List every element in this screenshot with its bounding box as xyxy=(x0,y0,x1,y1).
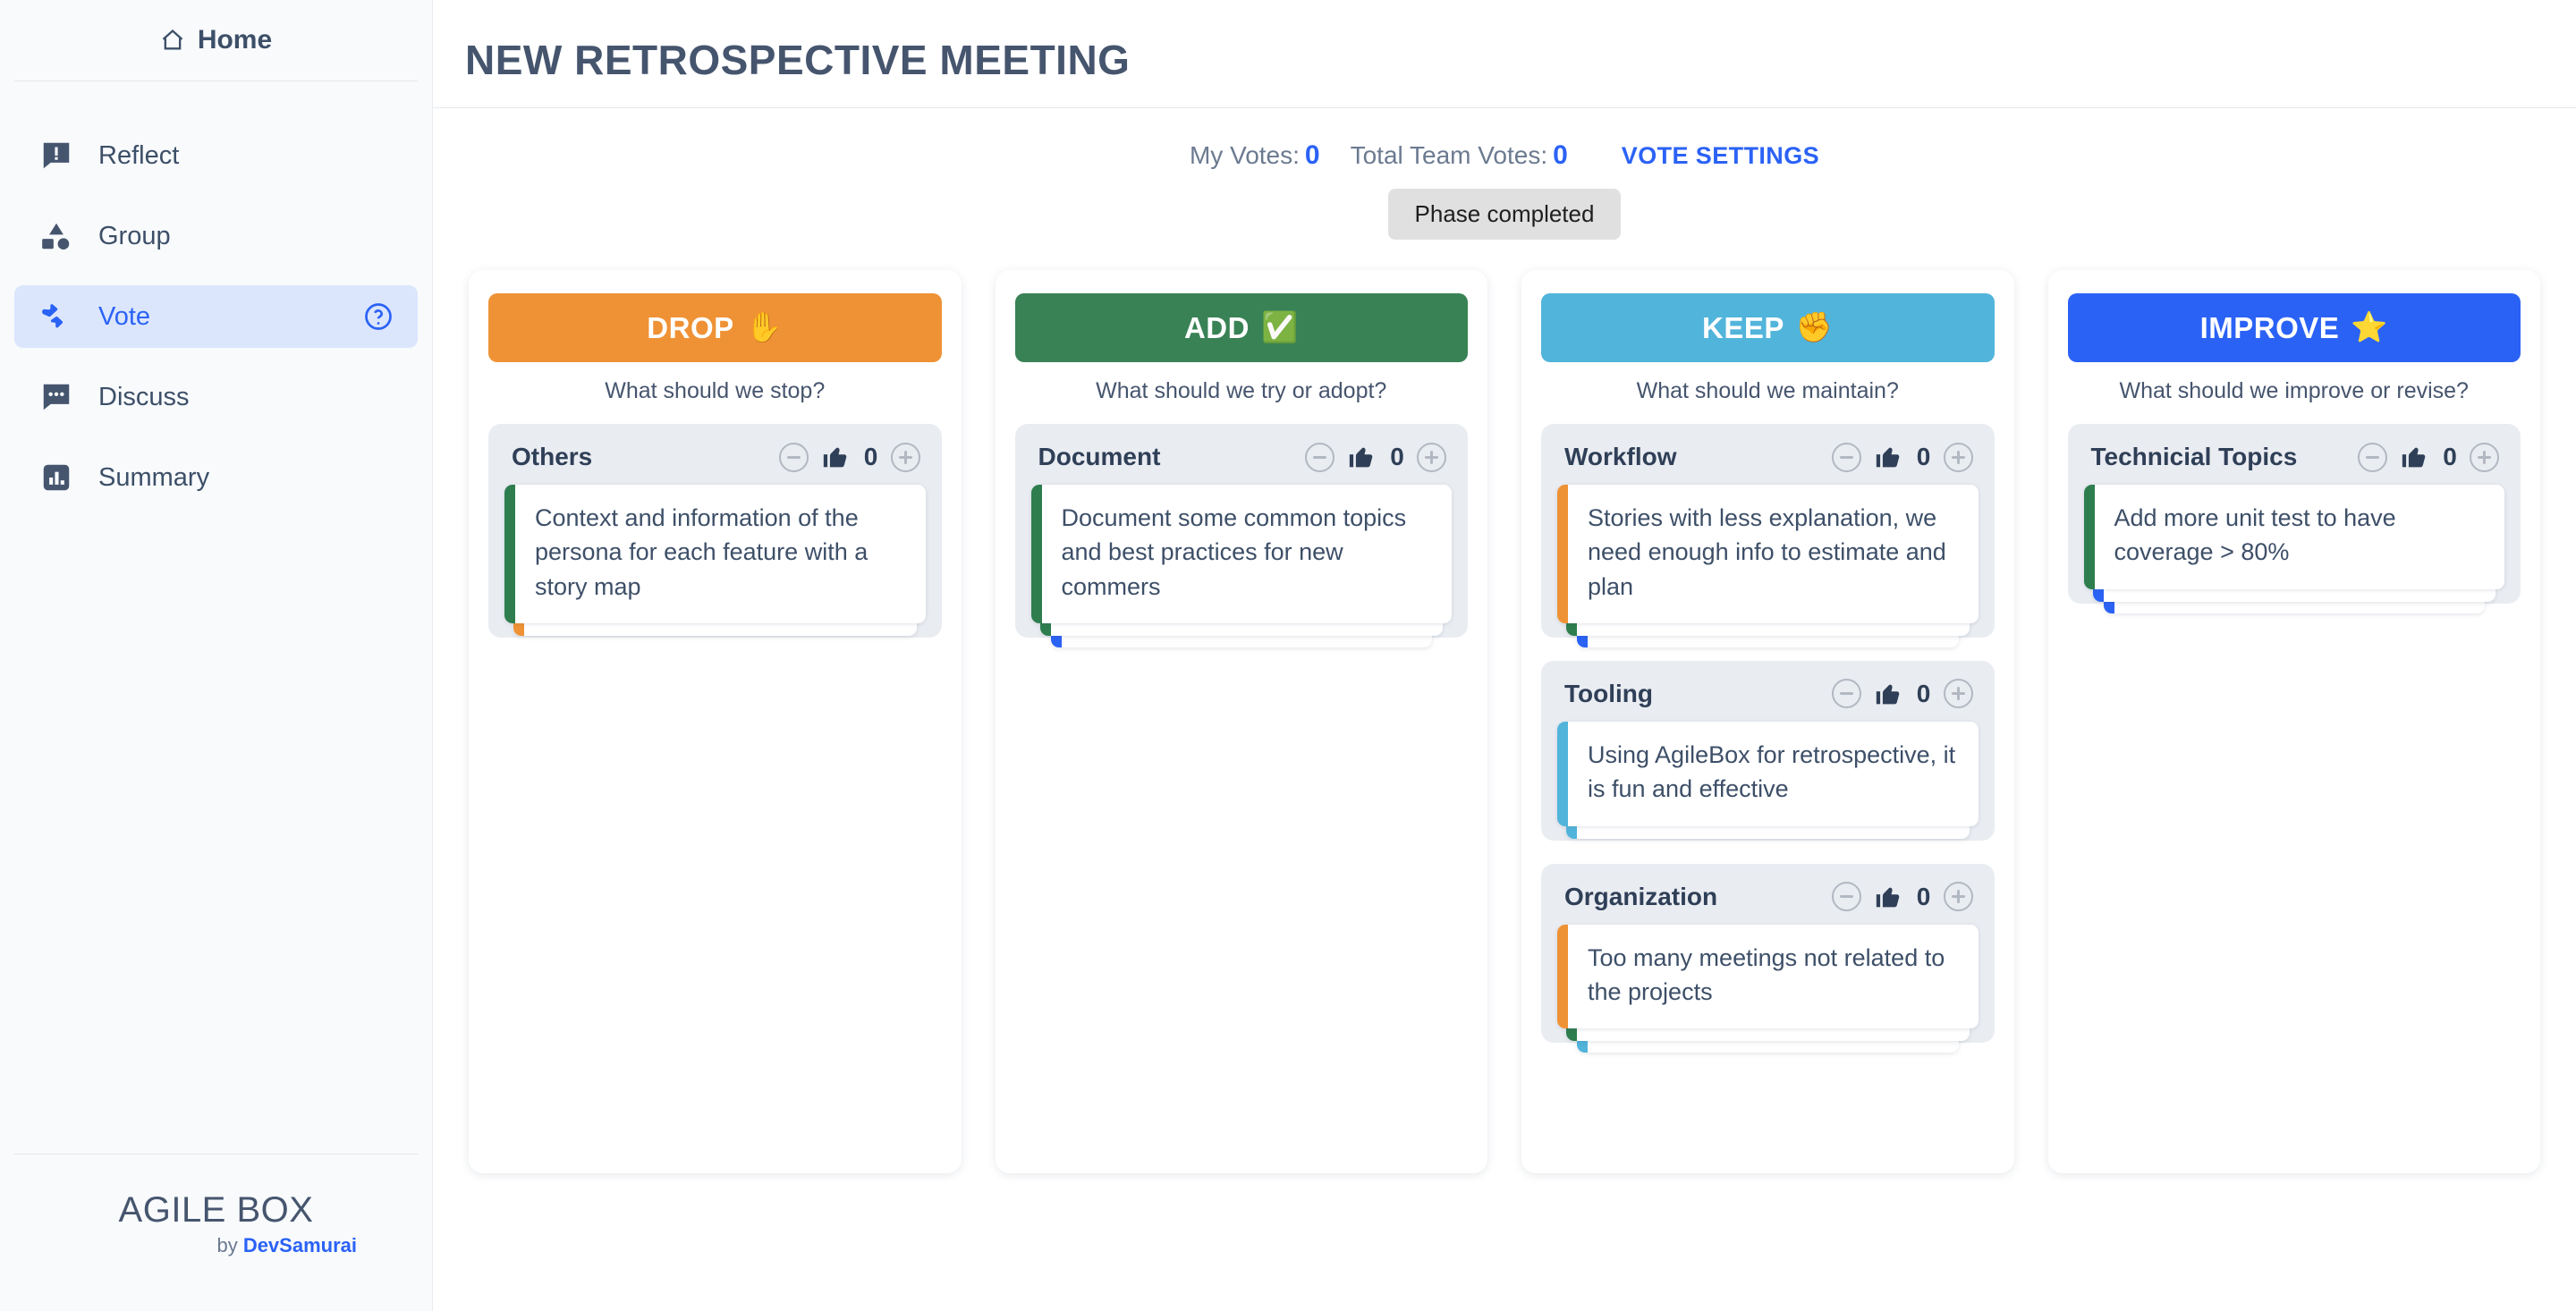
thumbs-up-icon xyxy=(821,442,852,472)
column-header[interactable]: KEEP✊ xyxy=(1541,293,1995,362)
vote-controls: 0 xyxy=(1832,679,1973,709)
phase-status-badge: Phase completed xyxy=(1388,189,1622,240)
group-icon xyxy=(38,217,75,255)
home-icon xyxy=(160,28,185,53)
group-header: Organization0 xyxy=(1557,882,1979,912)
group-card[interactable]: Technicial Topics0Add more unit test to … xyxy=(2068,424,2521,604)
note-accent-bar xyxy=(1557,722,1568,826)
sidebar: Home Reflect Group xyxy=(0,0,433,1311)
note-stack: Stories with less explanation, we need e… xyxy=(1557,485,1979,623)
note-text: Add more unit test to have coverage > 80… xyxy=(2095,485,2505,589)
sidebar-item-group[interactable]: Group xyxy=(14,205,418,267)
group-title: Others xyxy=(512,443,592,471)
sidebar-item-label: Summary xyxy=(98,463,209,493)
brand-by-label: by xyxy=(216,1234,242,1256)
brand-name: AGILE BOX xyxy=(0,1190,432,1231)
vote-increment-button[interactable] xyxy=(1944,679,1973,708)
sidebar-item-summary[interactable]: Summary xyxy=(14,446,418,509)
note-card[interactable]: Too many meetings not related to the pro… xyxy=(1557,925,1979,1029)
column-title: ADD xyxy=(1184,311,1250,345)
note-stack: Using AgileBox for retrospective, it is … xyxy=(1557,722,1979,826)
brand-byline: by DevSamurai xyxy=(0,1234,432,1257)
note-card[interactable]: Add more unit test to have coverage > 80… xyxy=(2084,485,2505,589)
board-column: KEEP✊What should we maintain?Workflow0St… xyxy=(1521,270,2014,1173)
group-card[interactable]: Document0Document some common topics and… xyxy=(1015,424,1469,638)
my-votes-label: My Votes: xyxy=(1190,141,1300,169)
vote-count: 0 xyxy=(1917,680,1931,708)
vote-controls: 0 xyxy=(1305,442,1446,472)
note-stack: Add more unit test to have coverage > 80… xyxy=(2084,485,2505,589)
home-label: Home xyxy=(198,25,272,55)
vote-count: 0 xyxy=(1917,883,1931,911)
board-column: ADD✅What should we try or adopt?Document… xyxy=(996,270,1488,1173)
note-accent-bar xyxy=(1557,485,1568,623)
note-text: Document some common topics and best pra… xyxy=(1042,485,1453,623)
vote-increment-button[interactable] xyxy=(2470,443,2499,472)
thumbs-up-icon xyxy=(1874,882,1904,912)
vote-decrement-button[interactable] xyxy=(779,443,809,472)
vote-increment-button[interactable] xyxy=(891,443,920,472)
thumbs-up-icon xyxy=(2400,442,2430,472)
note-stack: Too many meetings not related to the pro… xyxy=(1557,925,1979,1029)
note-accent-bar xyxy=(1557,925,1568,1029)
column-subtitle: What should we stop? xyxy=(488,378,942,404)
vote-decrement-button[interactable] xyxy=(1832,443,1861,472)
note-accent-bar xyxy=(504,485,515,623)
vote-decrement-button[interactable] xyxy=(1832,882,1861,911)
vote-controls: 0 xyxy=(1832,442,1973,472)
sidebar-item-label: Group xyxy=(98,222,171,251)
title-divider xyxy=(433,107,2576,108)
group-title: Organization xyxy=(1564,883,1717,911)
group-card[interactable]: Tooling0Using AgileBox for retrospective… xyxy=(1541,661,1995,841)
total-votes-value: 0 xyxy=(1553,140,1568,170)
vote-decrement-button[interactable] xyxy=(2358,443,2387,472)
sidebar-footer: AGILE BOX by DevSamurai xyxy=(0,1154,432,1311)
vote-increment-button[interactable] xyxy=(1417,443,1446,472)
sidebar-item-reflect[interactable]: Reflect xyxy=(14,124,418,187)
column-emoji-icon: ⭐ xyxy=(2351,310,2388,345)
group-title: Tooling xyxy=(1564,680,1653,708)
footer-divider xyxy=(14,1154,418,1155)
group-title: Workflow xyxy=(1564,443,1676,471)
vote-controls: 0 xyxy=(1832,882,1973,912)
summary-icon xyxy=(38,459,75,496)
main-content: NEW RETROSPECTIVE MEETING My Votes:0 Tot… xyxy=(433,0,2576,1311)
group-title: Technicial Topics xyxy=(2091,443,2298,471)
board-column: IMPROVE⭐What should we improve or revise… xyxy=(2048,270,2541,1173)
group-header: Others0 xyxy=(504,442,926,472)
note-text: Too many meetings not related to the pro… xyxy=(1568,925,1979,1029)
column-subtitle: What should we improve or revise? xyxy=(2068,378,2521,404)
vote-decrement-button[interactable] xyxy=(1832,679,1861,708)
vote-summary-bar: My Votes:0 Total Team Votes:0 VOTE SETTI… xyxy=(433,140,2576,171)
group-card[interactable]: Workflow0Stories with less explanation, … xyxy=(1541,424,1995,638)
note-accent-bar xyxy=(2084,485,2095,589)
column-header[interactable]: DROP✋ xyxy=(488,293,942,362)
discuss-icon xyxy=(38,378,75,416)
note-stack: Document some common topics and best pra… xyxy=(1031,485,1453,623)
note-text: Stories with less explanation, we need e… xyxy=(1568,485,1979,623)
thumbs-up-icon xyxy=(1874,679,1904,709)
sidebar-item-discuss[interactable]: Discuss xyxy=(14,366,418,428)
vote-count: 0 xyxy=(2443,443,2457,471)
note-card[interactable]: Stories with less explanation, we need e… xyxy=(1557,485,1979,623)
board-column: DROP✋What should we stop?Others0Context … xyxy=(469,270,962,1173)
group-card[interactable]: Organization0Too many meetings not relat… xyxy=(1541,864,1995,1044)
sidebar-item-label: Vote xyxy=(98,302,150,332)
group-header: Workflow0 xyxy=(1557,442,1979,472)
column-emoji-icon: ✊ xyxy=(1796,310,1834,345)
column-emoji-icon: ✋ xyxy=(746,310,784,345)
home-link[interactable]: Home xyxy=(0,0,432,80)
note-card[interactable]: Using AgileBox for retrospective, it is … xyxy=(1557,722,1979,826)
help-circle-icon[interactable] xyxy=(362,300,394,333)
vote-increment-button[interactable] xyxy=(1944,443,1973,472)
retro-board: DROP✋What should we stop?Others0Context … xyxy=(433,240,2576,1173)
brand-company[interactable]: DevSamurai xyxy=(243,1234,357,1256)
vote-count: 0 xyxy=(1917,443,1931,471)
column-title: KEEP xyxy=(1702,311,1784,345)
thumbs-up-icon xyxy=(1347,442,1377,472)
group-header: Document0 xyxy=(1031,442,1453,472)
total-team-votes: Total Team Votes:0 xyxy=(1351,140,1568,171)
column-header[interactable]: IMPROVE⭐ xyxy=(2068,293,2521,362)
sidebar-item-vote[interactable]: Vote xyxy=(14,285,418,348)
column-title: DROP xyxy=(647,311,733,345)
note-card[interactable]: Context and information of the persona f… xyxy=(504,485,926,623)
my-votes-value: 0 xyxy=(1305,140,1320,170)
vote-count: 0 xyxy=(864,443,878,471)
thumbs-up-icon xyxy=(1874,442,1904,472)
vote-controls: 0 xyxy=(779,442,920,472)
note-accent-bar xyxy=(1031,485,1042,623)
column-card-list: Workflow0Stories with less explanation, … xyxy=(1541,424,1995,1043)
page-title: NEW RETROSPECTIVE MEETING xyxy=(433,0,2576,84)
note-text: Using AgileBox for retrospective, it is … xyxy=(1568,722,1979,826)
group-title: Document xyxy=(1038,443,1161,471)
vote-decrement-button[interactable] xyxy=(1305,443,1335,472)
sidebar-nav: Reflect Group Vote xyxy=(0,81,432,509)
column-card-list: Others0Context and information of the pe… xyxy=(488,424,942,638)
total-votes-label: Total Team Votes: xyxy=(1351,141,1548,169)
vote-icon xyxy=(38,298,75,335)
column-card-list: Document0Document some common topics and… xyxy=(1015,424,1469,638)
reflect-icon xyxy=(38,137,75,174)
column-subtitle: What should we maintain? xyxy=(1541,378,1995,404)
column-emoji-icon: ✅ xyxy=(1261,310,1299,345)
note-text: Context and information of the persona f… xyxy=(515,485,926,623)
sidebar-item-label: Reflect xyxy=(98,141,179,171)
sidebar-item-label: Discuss xyxy=(98,383,190,412)
my-votes: My Votes:0 xyxy=(1190,140,1320,171)
vote-controls: 0 xyxy=(2358,442,2499,472)
column-card-list: Technicial Topics0Add more unit test to … xyxy=(2068,424,2521,604)
group-card[interactable]: Others0Context and information of the pe… xyxy=(488,424,942,638)
column-subtitle: What should we try or adopt? xyxy=(1015,378,1469,404)
vote-settings-button[interactable]: VOTE SETTINGS xyxy=(1622,142,1819,170)
vote-count: 0 xyxy=(1390,443,1404,471)
group-header: Technicial Topics0 xyxy=(2084,442,2505,472)
column-header[interactable]: ADD✅ xyxy=(1015,293,1469,362)
note-card[interactable]: Document some common topics and best pra… xyxy=(1031,485,1453,623)
note-stack: Context and information of the persona f… xyxy=(504,485,926,623)
vote-increment-button[interactable] xyxy=(1944,882,1973,911)
column-title: IMPROVE xyxy=(2200,311,2340,345)
group-header: Tooling0 xyxy=(1557,679,1979,709)
